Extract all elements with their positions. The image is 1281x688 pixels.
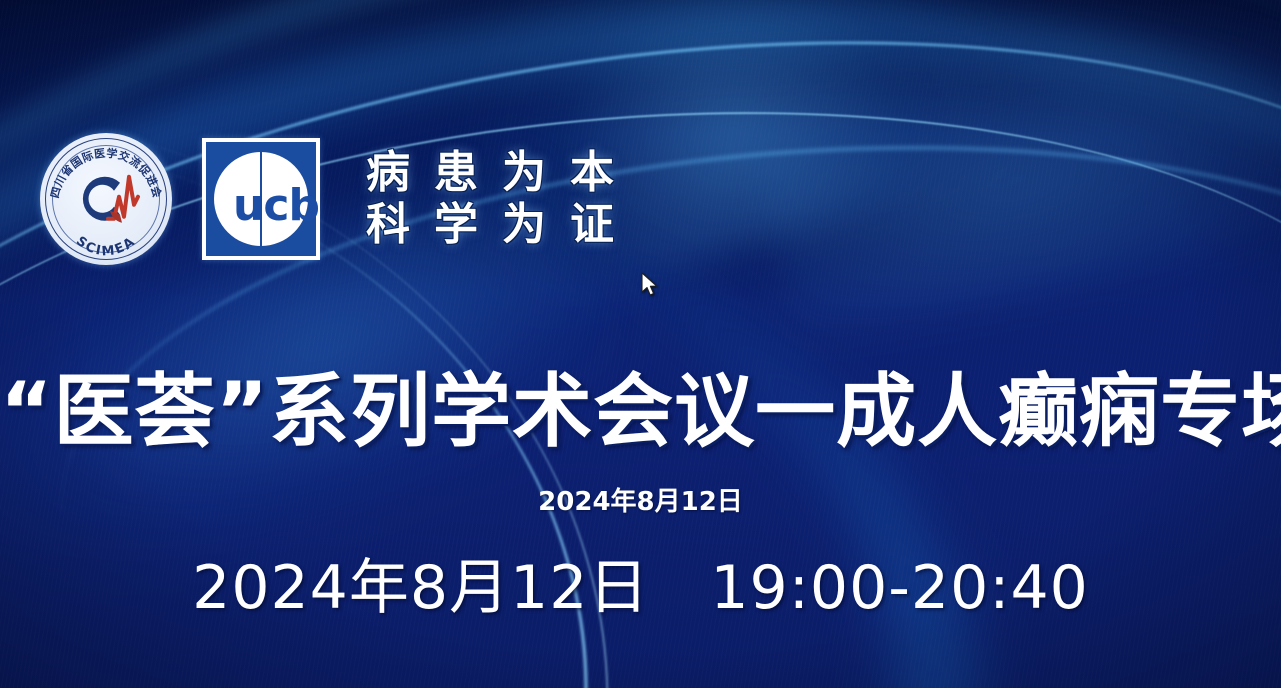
brand-slogan: 病 患 为 本 科 学 为 证: [366, 150, 616, 248]
slogan-char: 证: [570, 202, 616, 248]
slogan-char: 科: [366, 202, 412, 248]
header-logo-row: 四川省国际医学交流促进会 SCIMEA ucb 病 患 为: [40, 133, 616, 265]
page-title: “医荟”系列学术会议一成人癫痫专场: [0, 372, 1281, 452]
slogan-line-2: 科 学 为 证: [366, 202, 616, 248]
subtitle-date: 2024年8月12日: [0, 481, 1281, 518]
slogan-char: 本: [570, 150, 616, 196]
slogan-char: 病: [366, 150, 412, 196]
scimea-ecg-mark-icon: [70, 167, 142, 229]
svg-text:SCIMEA: SCIMEA: [73, 234, 139, 260]
slogan-char: 患: [434, 150, 480, 196]
scimea-arc-en-text: SCIMEA: [73, 234, 139, 260]
scimea-circular-logo: 四川省国际医学交流促进会 SCIMEA: [40, 133, 172, 265]
slogan-char: 学: [434, 202, 480, 248]
ucb-logo: ucb: [202, 138, 320, 260]
slogan-char: 为: [502, 202, 548, 248]
event-datetime: 2024年8月12日 19:00-20:40: [0, 539, 1281, 626]
slogan-char: 为: [502, 150, 548, 196]
slogan-line-1: 病 患 为 本: [366, 150, 616, 196]
ucb-wordmark: ucb: [233, 184, 319, 228]
presentation-slide: 四川省国际医学交流促进会 SCIMEA ucb 病 患 为: [0, 0, 1281, 688]
